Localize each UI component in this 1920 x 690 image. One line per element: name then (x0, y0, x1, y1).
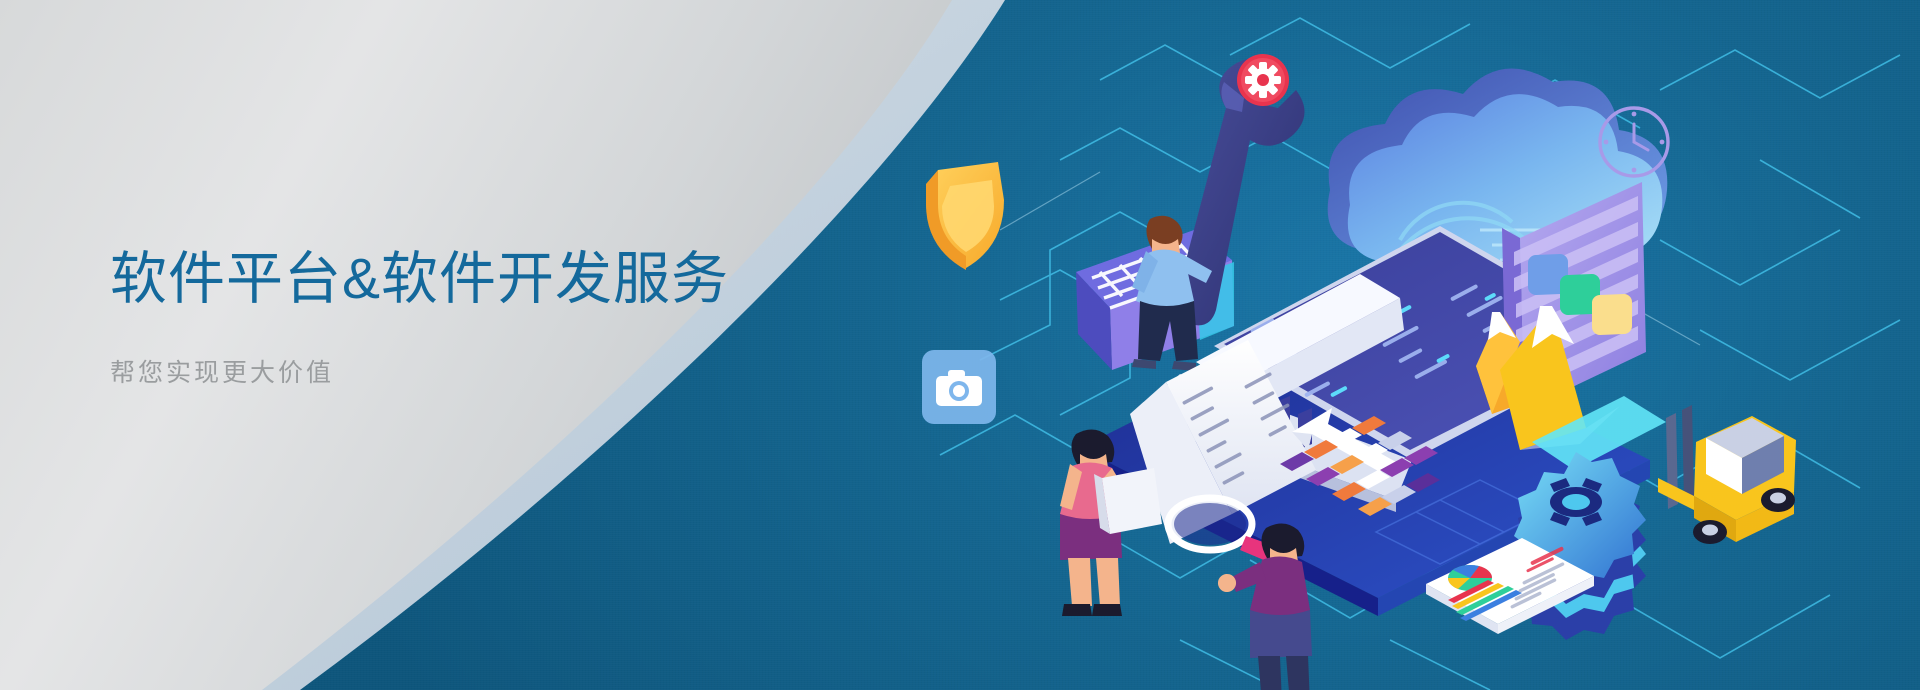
wrench-icon (1175, 59, 1305, 325)
hero-text-block: 软件平台&软件开发服务 帮您实现更大价值 (110, 246, 870, 389)
gear-icon (1237, 54, 1289, 106)
page-title: 软件平台&软件开发服务 (110, 246, 870, 313)
hero-banner: 软件平台&软件开发服务 帮您实现更大价值 (0, 0, 1920, 690)
forklift-icon (1658, 405, 1796, 544)
card-yellow (1592, 294, 1632, 335)
page-subtitle: 帮您实现更大价值 (110, 353, 870, 389)
